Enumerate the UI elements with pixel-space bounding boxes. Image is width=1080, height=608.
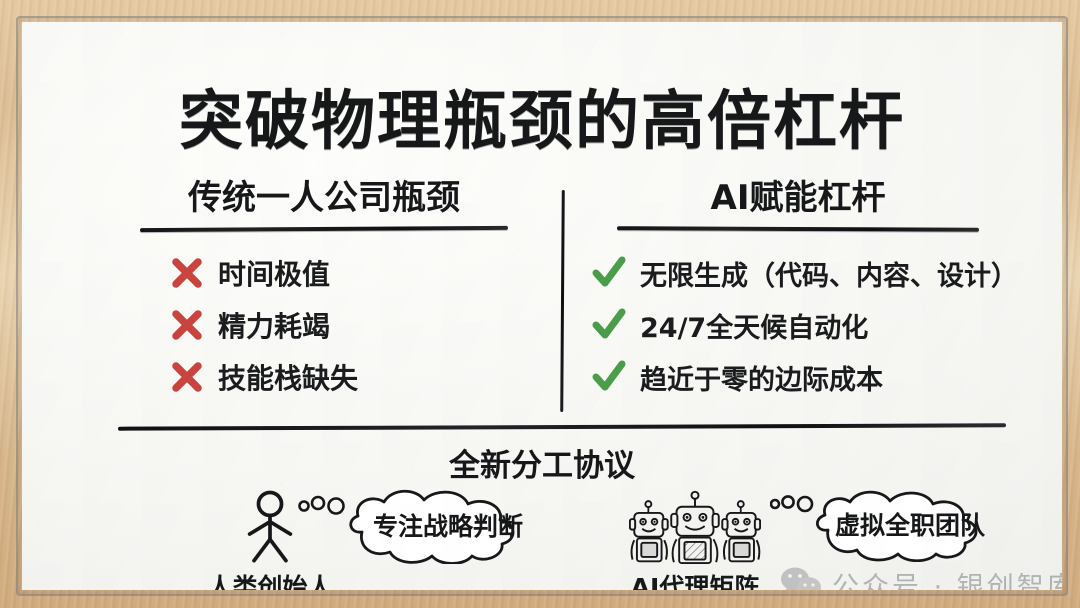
heading-underline-left <box>140 226 508 232</box>
thought-bubble-text: 虚拟全职团队 <box>770 506 1020 542</box>
cross-icon <box>170 360 204 394</box>
actor-ai-agents: AI代理矩阵 <box>610 484 780 590</box>
page-title: 突破物理瓶颈的高倍杠杆 <box>22 70 1062 162</box>
robot-trio-icon <box>610 484 780 566</box>
section-divider <box>118 423 1006 430</box>
check-icon <box>592 256 626 290</box>
thought-bubble-agents: 虚拟全职团队 <box>770 486 1020 562</box>
list-item: 时间极值 <box>114 247 534 299</box>
list-item: 趋近于零的边际成本 <box>588 351 1008 403</box>
list-item: 精力耗竭 <box>114 299 534 351</box>
heading-underline-right <box>617 227 979 233</box>
thought-bubble-human: 专注战略判断 <box>298 486 558 564</box>
list-item: 24/7全天候自动化 <box>588 299 1008 351</box>
cross-icon <box>170 256 204 290</box>
whiteboard-screenshot: 突破物理瓶颈的高倍杠杆 传统一人公司瓶颈 <box>0 0 1080 608</box>
list-item: 技能栈缺失 <box>114 351 534 403</box>
comparison-columns: 传统一人公司瓶颈 时间极值 <box>22 180 1062 420</box>
section-title: 全新分工协议 <box>22 440 1062 485</box>
whiteboard-surface: 突破物理瓶颈的高倍杠杆 传统一人公司瓶颈 <box>22 22 1062 590</box>
column-heading-right: AI赋能杠杆 <box>588 180 1008 217</box>
thought-bubble-text: 专注战略判断 <box>298 507 558 543</box>
list-item-label: 技能栈缺失 <box>218 357 358 397</box>
list-item-label: 精力耗竭 <box>218 305 330 345</box>
list-item-label: 无限生成（代码、内容、设计） <box>640 254 1018 293</box>
list-item-label: 趋近于零的边际成本 <box>640 358 883 397</box>
list-item-label: 时间极值 <box>218 253 330 293</box>
column-ai-leverage: AI赋能杠杆 无限生成（代码、内容、设计） <box>588 180 1008 403</box>
watermark: 公众号 · 银创智库 <box>780 565 1062 590</box>
column-bottlenecks: 传统一人公司瓶颈 时间极值 <box>114 180 534 403</box>
wechat-icon <box>780 566 822 590</box>
bottleneck-list: 时间极值 精力耗竭 <box>114 247 534 403</box>
cross-icon <box>170 308 204 342</box>
list-item-label: 24/7全天候自动化 <box>640 306 868 345</box>
check-icon <box>592 308 626 342</box>
actor-label: AI代理矩阵 <box>610 568 780 590</box>
column-heading-left: 传统一人公司瓶颈 <box>114 180 534 217</box>
check-icon <box>592 360 626 394</box>
actor-label: 人类创始人 <box>190 568 350 590</box>
watermark-text: 公众号 · 银创智库 <box>832 565 1062 590</box>
list-item: 无限生成（代码、内容、设计） <box>588 247 1008 299</box>
leverage-list: 无限生成（代码、内容、设计） 24/7全天候自动化 <box>588 247 1008 403</box>
